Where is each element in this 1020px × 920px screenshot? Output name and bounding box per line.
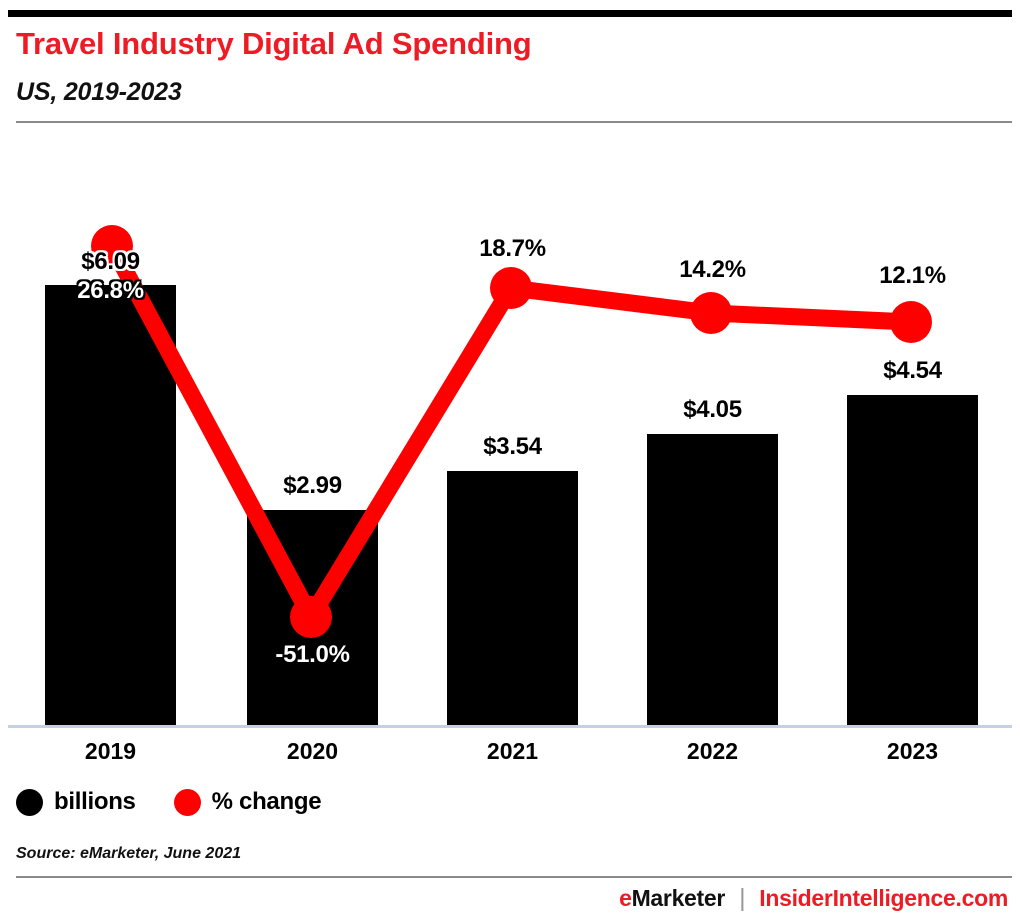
bar-2023: [847, 395, 978, 726]
plot-area: $6.09 $2.99 $3.54 $4.05 $4.54 26.8% -51.…: [0, 0, 1020, 920]
bar-2022: [647, 434, 778, 726]
bar-2019: [45, 285, 176, 726]
bar-2021: [447, 471, 578, 726]
legend-item-percent-change[interactable]: % change: [174, 788, 322, 816]
x-tick-2022: 2022: [647, 738, 778, 765]
legend-dot-percent-change-icon: [174, 789, 201, 816]
pct-label-2023: 12.1%: [847, 262, 978, 290]
brand-emarketer[interactable]: eMarketer: [619, 885, 725, 912]
legend-item-billions[interactable]: billions: [16, 788, 136, 816]
legend-label-billions: billions: [54, 788, 136, 816]
brand-emarketer-marketer: Marketer: [632, 885, 726, 911]
bar-2020: [247, 510, 378, 726]
x-tick-2023: 2023: [847, 738, 978, 765]
x-tick-2020: 2020: [247, 738, 378, 765]
x-tick-2019: 2019: [45, 738, 176, 765]
x-tick-2021: 2021: [447, 738, 578, 765]
bar-value-2020: $2.99: [247, 472, 378, 500]
bar-value-2019: $6.09: [45, 248, 176, 276]
brand-emarketer-e: e: [619, 885, 632, 911]
pct-label-2021: 18.7%: [447, 235, 578, 263]
bar-value-2023: $4.54: [847, 357, 978, 385]
bar-value-2021: $3.54: [447, 433, 578, 461]
pct-label-2019: 26.8%: [45, 277, 176, 305]
brand-separator: |: [739, 884, 745, 913]
source-note: Source: eMarketer, June 2021: [16, 845, 241, 863]
footer-divider: [16, 876, 1012, 878]
bar-value-2022: $4.05: [647, 396, 778, 424]
chart-page: Travel Industry Digital Ad Spending US, …: [0, 0, 1020, 920]
chart-legend: billions % change: [16, 788, 321, 816]
pct-label-2020: -51.0%: [247, 641, 378, 669]
footer-brand: eMarketer | InsiderIntelligence.com: [619, 884, 1008, 913]
legend-dot-billions-icon: [16, 789, 43, 816]
x-axis-line: [8, 725, 1012, 728]
brand-insider-intelligence[interactable]: InsiderIntelligence.com: [759, 885, 1008, 912]
pct-label-2022: 14.2%: [647, 256, 778, 284]
legend-label-percent-change: % change: [212, 788, 322, 816]
